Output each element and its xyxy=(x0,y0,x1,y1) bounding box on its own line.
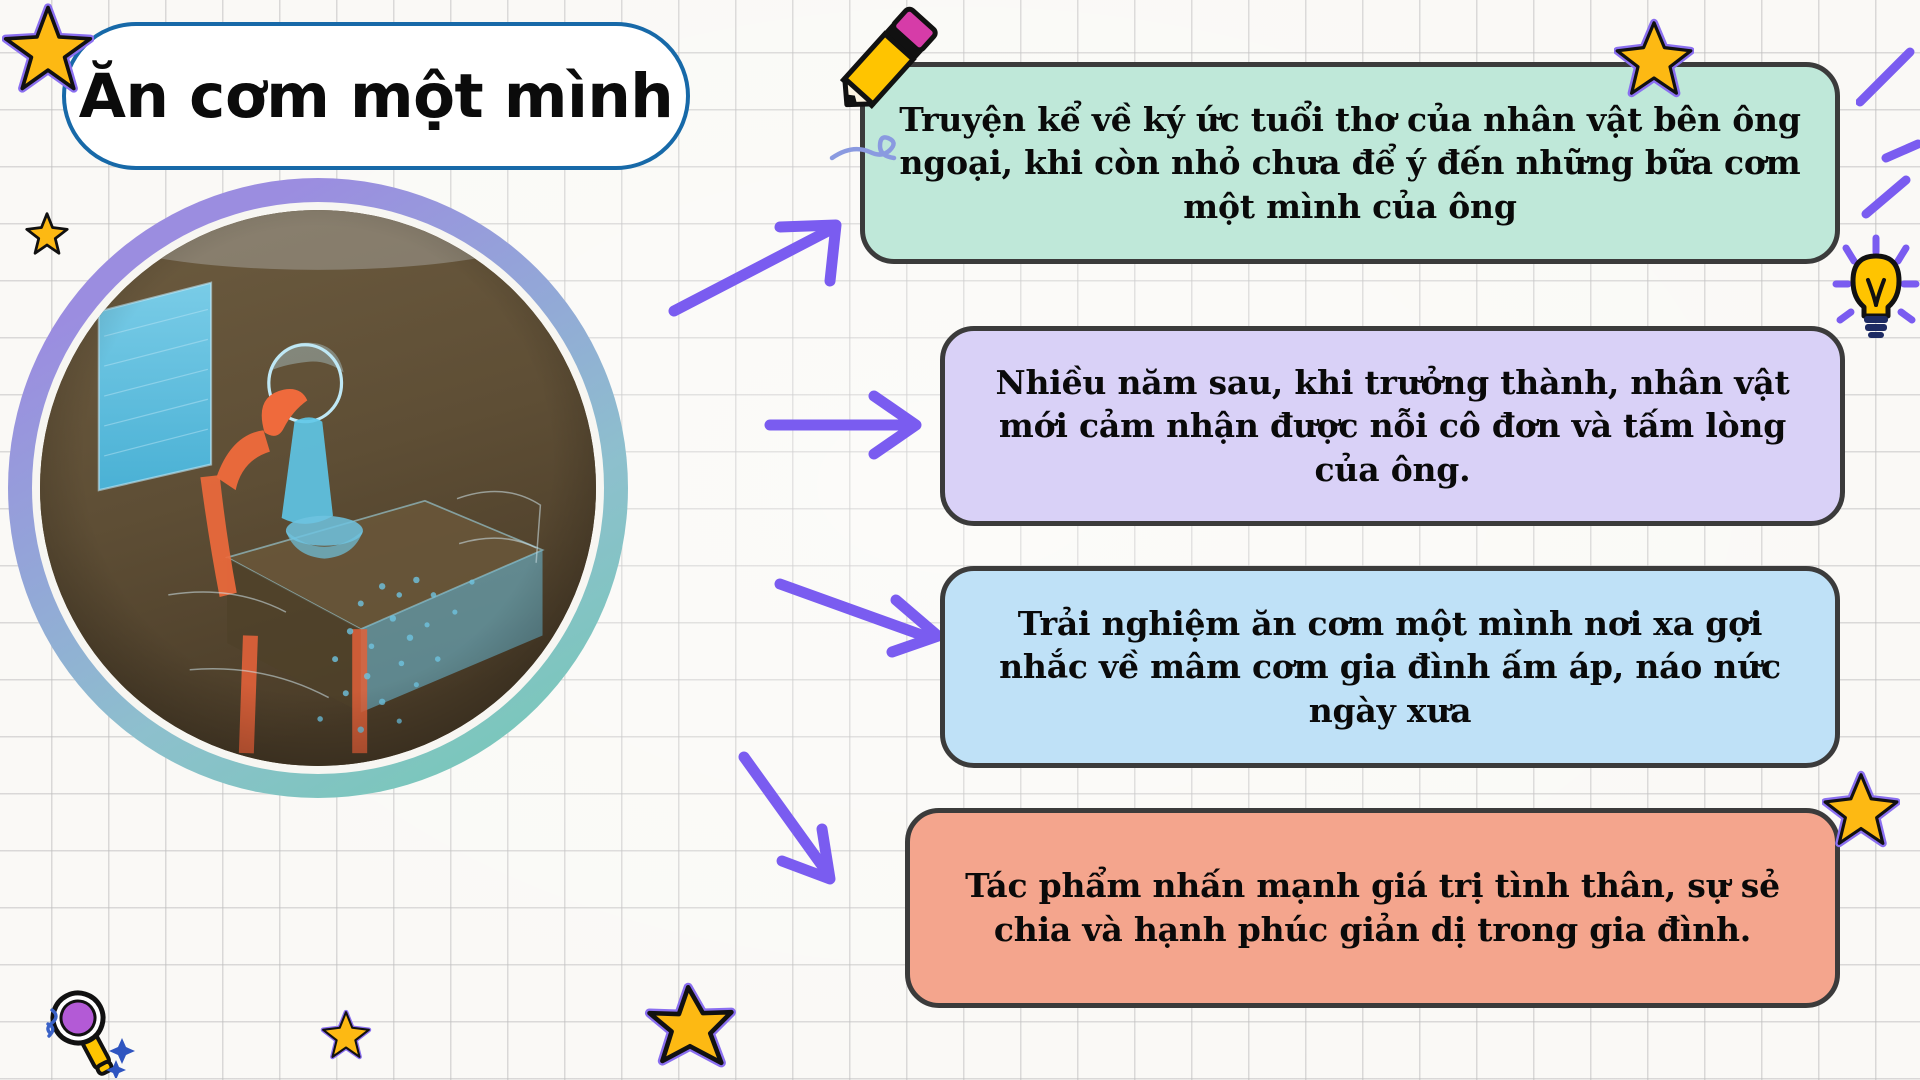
content-box-3-text: Trải nghiệm ăn cơm một mình nơi xa gợi n… xyxy=(971,602,1809,733)
star-icon xyxy=(24,210,70,256)
arrow-to-box-2 xyxy=(760,390,930,460)
content-box-4-text: Tác phẩm nhấn mạnh giá trị tình thân, sự… xyxy=(936,864,1809,951)
pencil-icon xyxy=(828,0,946,124)
page-title: Ăn cơm một mình xyxy=(79,66,673,127)
star-icon xyxy=(2,2,94,94)
content-box-4[interactable]: Tác phẩm nhấn mạnh giá trị tình thân, sự… xyxy=(905,808,1840,1008)
arrow-to-box-1 xyxy=(660,215,860,325)
photo-scene-svg xyxy=(40,210,596,766)
magnifier-icon xyxy=(26,988,146,1078)
content-box-2[interactable]: Nhiều năm sau, khi trưởng thành, nhân vậ… xyxy=(940,326,1845,526)
star-icon xyxy=(320,1008,372,1060)
content-box-1-text: Truyện kể về ký ức tuổi thơ của nhân vật… xyxy=(891,98,1809,229)
lightbulb-icon xyxy=(1832,232,1920,350)
arrow-to-box-3 xyxy=(770,570,950,660)
squiggle-doodle-icon xyxy=(1856,40,1920,220)
star-icon xyxy=(1822,770,1900,848)
content-box-2-text: Nhiều năm sau, khi trưởng thành, nhân vậ… xyxy=(971,361,1814,492)
page-title-pill: Ăn cơm một mình xyxy=(62,22,690,170)
photo-gradient-ring xyxy=(8,178,628,798)
star-icon xyxy=(644,980,736,1072)
photo-inner-ring xyxy=(32,202,604,774)
squiggle-doodle-icon xyxy=(828,128,918,168)
content-box-3[interactable]: Trải nghiệm ăn cơm một mình nơi xa gợi n… xyxy=(940,566,1840,768)
illustration-photo xyxy=(40,210,596,766)
arrow-to-box-4 xyxy=(730,745,870,895)
star-icon xyxy=(1614,18,1694,98)
